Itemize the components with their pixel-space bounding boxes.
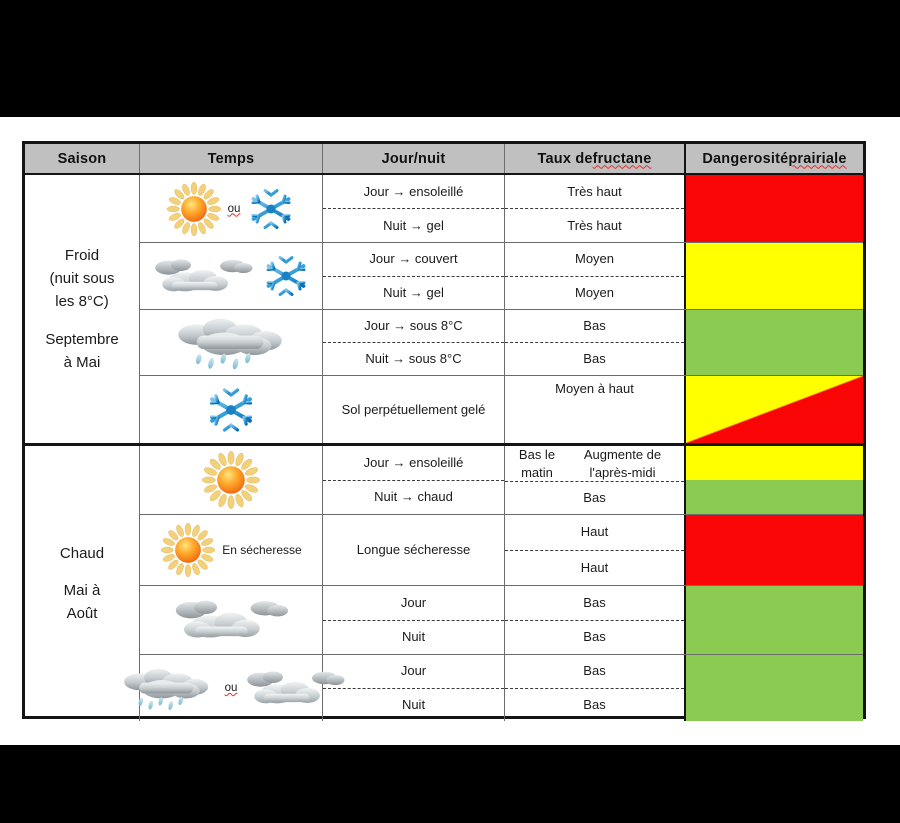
taux-fructane-value: Bas le matinAugmente de l'après-midi: [505, 446, 684, 482]
danger-swatch: [686, 175, 863, 242]
weather-icon-cell: ou: [140, 655, 323, 721]
jour-nuit-value: Sol perpétuellement gelé: [323, 376, 504, 443]
header-cell-jour-nuit: Jour/nuit: [323, 144, 505, 173]
rain-cloud-icon: [167, 309, 295, 376]
jour-nuit-value: Nuit: [323, 689, 504, 722]
weather-icon-cell: [140, 376, 323, 443]
taux-fructane-value: Bas: [505, 310, 684, 343]
ou-separator-label: ou: [225, 682, 238, 694]
taux-fructane-cell: Moyen à haut: [505, 376, 686, 443]
header-label-taux-term: fructane: [593, 151, 652, 167]
table-row: JourNuitBasBas: [140, 586, 863, 655]
header-label-saison: Saison: [58, 151, 107, 167]
jour-nuit-cell: Jour → ensoleilléNuit → gel: [323, 175, 505, 242]
jour-nuit-value: Jour → ensoleillé: [323, 446, 504, 481]
taux-fructane-value: Très haut: [505, 209, 684, 242]
header-cell-taux-fructane: Taux de fructane: [505, 144, 686, 173]
row-data-columns: Jour → ensoleilléNuit → chaudBas le mati…: [323, 446, 863, 514]
table-body: Froid(nuit sousles 8°C)Septembreà Mai ou: [25, 175, 863, 721]
season-label-line: (nuit sous: [49, 267, 114, 290]
jour-nuit-cell: Sol perpétuellement gelé: [323, 376, 505, 443]
season-label-cell: Froid(nuit sousles 8°C)Septembreà Mai: [25, 175, 140, 443]
taux-fructane-value: Moyen: [505, 243, 684, 277]
row-data-columns: Sol perpétuellement geléMoyen à haut: [323, 376, 863, 443]
snowflake-icon: [246, 184, 296, 234]
jour-nuit-value: Nuit: [323, 621, 504, 655]
weather-icon-cell: En sécheresse: [140, 515, 323, 585]
taux-fructane-cell: BasBas: [505, 310, 686, 375]
header-cell-saison: Saison: [25, 144, 140, 173]
taux-fructane-value: Bas: [505, 586, 684, 621]
season-section-froid: Froid(nuit sousles 8°C)Septembreà Mai ou: [25, 175, 863, 446]
header-label-danger-term: prairiale: [788, 151, 846, 167]
header-label-jour-nuit: Jour/nuit: [382, 151, 446, 167]
dangerosite-cell: [686, 446, 863, 514]
table-row: Jour → couvertNuit → gelMoyenMoyen: [140, 243, 863, 310]
jour-nuit-value: Jour → ensoleillé: [323, 175, 504, 209]
table-row: ou Jour → ensoleilléNuit → gelTrès hautT…: [140, 175, 863, 243]
jour-nuit-value: Longue sécheresse: [323, 515, 504, 585]
taux-fructane-value: Moyen à haut: [505, 376, 684, 443]
danger-swatch: [686, 655, 863, 721]
taux-fructane-cell: Bas le matinAugmente de l'après-midiBas: [505, 446, 686, 514]
table-header-row: Saison Temps Jour/nuit Taux de fructane …: [25, 144, 863, 175]
danger-swatch: [686, 480, 863, 514]
danger-swatch: [686, 586, 863, 654]
weather-icon-cell: [140, 586, 323, 654]
jour-nuit-value: Jour: [323, 655, 504, 689]
table-row: Sol perpétuellement geléMoyen à haut: [140, 376, 863, 443]
danger-swatch: [686, 515, 863, 585]
season-label-line: Septembre: [45, 328, 118, 351]
clouds-icon: [243, 663, 347, 713]
jour-nuit-cell: JourNuit: [323, 586, 505, 654]
jour-nuit-cell: Jour → couvertNuit → gel: [323, 243, 505, 309]
weather-icon-cell: [140, 243, 323, 309]
jour-nuit-value: Nuit → gel: [323, 277, 504, 310]
season-label-line: Mai à: [64, 579, 101, 602]
header-label-taux-prefix: Taux de: [538, 151, 593, 167]
row-data-columns: JourNuitBasBas: [323, 586, 863, 654]
taux-fructane-value: Très haut: [505, 175, 684, 209]
season-label-line: Froid: [65, 244, 99, 267]
season-label-line: Chaud: [60, 542, 104, 565]
jour-nuit-value: Jour: [323, 586, 504, 621]
ou-separator-label: ou: [228, 203, 241, 215]
dangerosite-cell: [686, 175, 863, 242]
en-secheresse-label: En sécheresse: [222, 543, 301, 557]
jour-nuit-value: Jour → couvert: [323, 243, 504, 277]
dangerosite-cell: [686, 376, 863, 443]
taux-fructane-cell: MoyenMoyen: [505, 243, 686, 309]
jour-nuit-cell: Jour → sous 8°CNuit → sous 8°C: [323, 310, 505, 375]
header-cell-dangerosite: Dangerosité prairiale: [686, 144, 863, 173]
jour-nuit-cell: Longue sécheresse: [323, 515, 505, 585]
table-row: ou JourNuitBasBas: [140, 655, 863, 721]
jour-nuit-value: Nuit → chaud: [323, 481, 504, 515]
weather-icon-cell: [140, 446, 323, 514]
taux-fructane-value: Bas: [505, 343, 684, 375]
row-data-columns: Longue sécheresseHautHaut: [323, 515, 863, 585]
jour-nuit-value: Nuit → gel: [323, 209, 504, 242]
fructane-risk-table: Saison Temps Jour/nuit Taux de fructane …: [22, 141, 866, 719]
taux-fructane-value: Bas: [505, 689, 684, 722]
taux-fructane-value: Bas: [505, 482, 684, 514]
sun-icon: [201, 450, 261, 510]
row-data-columns: JourNuitBasBas: [323, 655, 863, 721]
jour-nuit-cell: JourNuit: [323, 655, 505, 721]
taux-fructane-cell: BasBas: [505, 655, 686, 721]
season-section-chaud: ChaudMai àAoût Jour → ensoleilléNuit → c…: [25, 446, 863, 721]
taux-fructane-cell: Très hautTrès haut: [505, 175, 686, 242]
table-row: En sécheresseLongue sécheresseHautHaut: [140, 515, 863, 586]
danger-swatch-diagonal: [686, 376, 863, 443]
weather-icon-cell: ou: [140, 175, 323, 242]
rain-cloud-icon: [115, 661, 219, 715]
jour-nuit-value: Nuit → sous 8°C: [323, 343, 504, 375]
clouds-icon: [171, 591, 291, 649]
row-data-columns: Jour → couvertNuit → gelMoyenMoyen: [323, 243, 863, 309]
jour-nuit-value: Jour → sous 8°C: [323, 310, 504, 343]
table-row: Jour → sous 8°CNuit → sous 8°CBasBas: [140, 310, 863, 376]
snowflake-icon: [204, 383, 258, 437]
dangerosite-cell: [686, 515, 863, 585]
taux-fructane-value: Bas: [505, 655, 684, 689]
sun-icon: [160, 522, 216, 578]
header-cell-temps: Temps: [140, 144, 323, 173]
taux-fructane-cell: HautHaut: [505, 515, 686, 585]
weather-row-group: ou Jour → ensoleilléNuit → gelTrès hautT…: [140, 175, 863, 443]
weather-icon-cell: [140, 310, 323, 375]
jour-nuit-cell: Jour → ensoleilléNuit → chaud: [323, 446, 505, 514]
season-label-line: les 8°C): [55, 290, 109, 313]
taux-fructane-value: Moyen: [505, 277, 684, 310]
row-data-columns: Jour → ensoleilléNuit → gelTrès hautTrès…: [323, 175, 863, 242]
sun-icon: [166, 181, 222, 237]
header-label-temps: Temps: [208, 151, 255, 167]
taux-fructane-value: Bas: [505, 621, 684, 655]
dangerosite-cell: [686, 243, 863, 309]
document-page: Saison Temps Jour/nuit Taux de fructane …: [0, 117, 900, 745]
season-label-line: à Mai: [64, 351, 101, 374]
taux-fructane-value: Haut: [505, 515, 684, 551]
taux-fructane-cell: BasBas: [505, 586, 686, 654]
danger-swatch: [686, 243, 863, 309]
dangerosite-cell: [686, 310, 863, 375]
season-label-line: Août: [67, 602, 98, 625]
weather-row-group: Jour → ensoleilléNuit → chaudBas le mati…: [140, 446, 863, 721]
taux-fructane-value: Haut: [505, 551, 684, 586]
clouds-icon: [151, 251, 255, 301]
row-data-columns: Jour → sous 8°CNuit → sous 8°CBasBas: [323, 310, 863, 375]
header-label-danger-prefix: Dangerosité: [702, 151, 788, 167]
dangerosite-cell: [686, 655, 863, 721]
table-row: Jour → ensoleilléNuit → chaudBas le mati…: [140, 446, 863, 515]
danger-swatch: [686, 446, 863, 480]
danger-swatch: [686, 310, 863, 375]
dangerosite-cell: [686, 586, 863, 654]
snowflake-icon: [261, 251, 311, 301]
